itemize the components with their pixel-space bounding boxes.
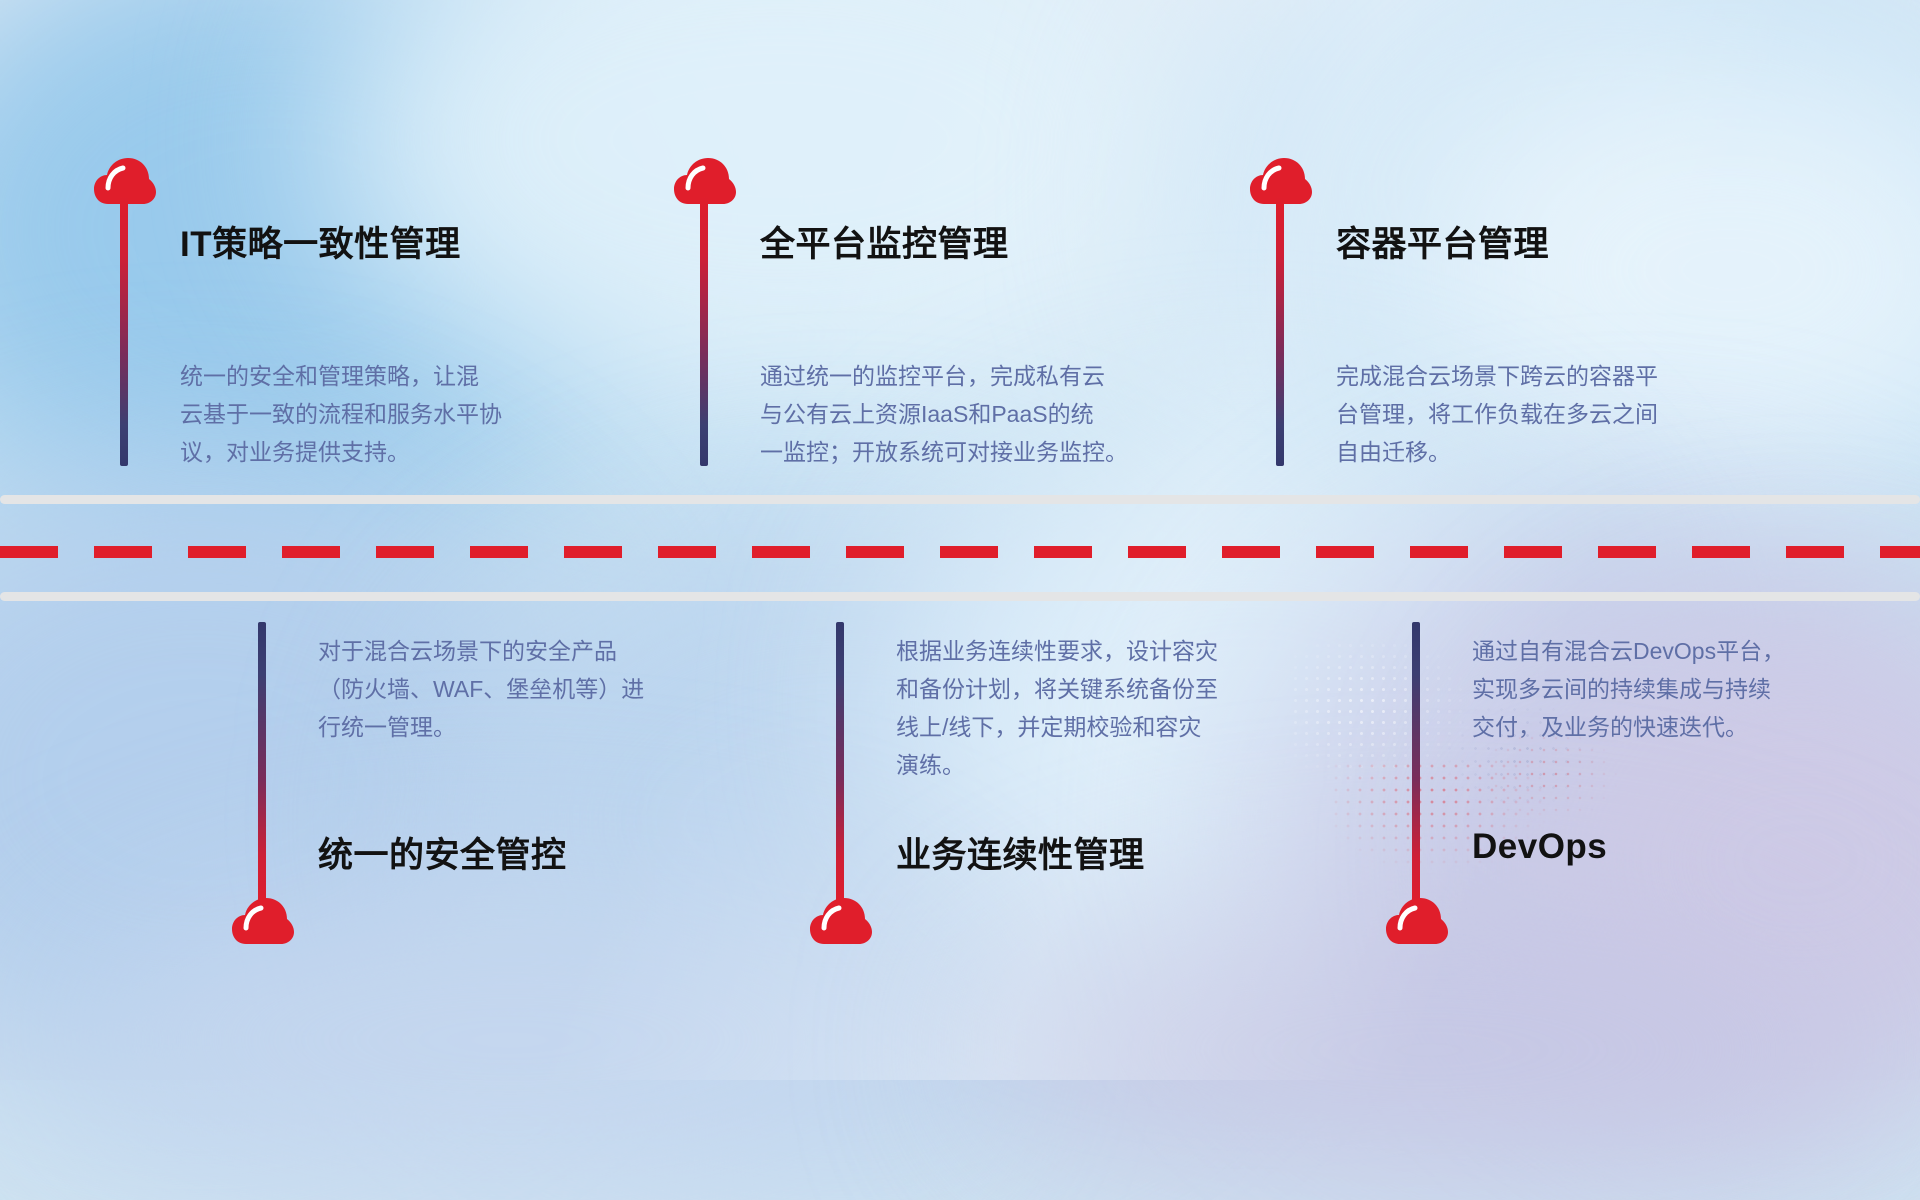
card-heading: 容器平台管理 xyxy=(1336,216,1549,267)
card-heading: 统一的安全管控 xyxy=(318,827,567,878)
divider-solid-bottom xyxy=(0,592,1920,601)
card-body-text: 通过统一的监控平台，完成私有云 与公有云上资源IaaS和PaaS的统 一监控；开… xyxy=(760,357,1220,471)
stem-connector xyxy=(120,196,128,466)
card-heading: 全平台监控管理 xyxy=(760,216,1009,267)
cloud-icon xyxy=(1386,898,1448,946)
card-body-text: 对于混合云场景下的安全产品 （防火墙、WAF、堡垒机等）进 行统一管理。 xyxy=(318,632,758,746)
card-body-text: 统一的安全和管理策略，让混 云基于一致的流程和服务水平协 议，对业务提供支持。 xyxy=(180,357,620,471)
card-heading: DevOps xyxy=(1472,827,1607,867)
stem-connector xyxy=(1412,622,1420,910)
card-heading: IT策略一致性管理 xyxy=(180,216,461,267)
card-heading: 业务连续性管理 xyxy=(896,827,1145,878)
cloud-icon xyxy=(810,898,872,946)
stem-connector xyxy=(258,622,266,910)
divider-dashed-red xyxy=(0,546,1920,558)
divider-solid-top xyxy=(0,495,1920,504)
stem-connector xyxy=(700,196,708,466)
stem-connector xyxy=(1276,196,1284,466)
card-body-text: 完成混合云场景下跨云的容器平 台管理，将工作负载在多云之间 自由迁移。 xyxy=(1336,357,1776,471)
card-body-text: 根据业务连续性要求，设计容灾 和备份计划，将关键系统备份至 线上/线下，并定期校… xyxy=(896,632,1336,784)
stem-connector xyxy=(836,622,844,910)
cloud-icon xyxy=(232,898,294,946)
card-body-text: 通过自有混合云DevOps平台， 实现多云间的持续集成与持续 交付，及业务的快速… xyxy=(1472,632,1912,746)
